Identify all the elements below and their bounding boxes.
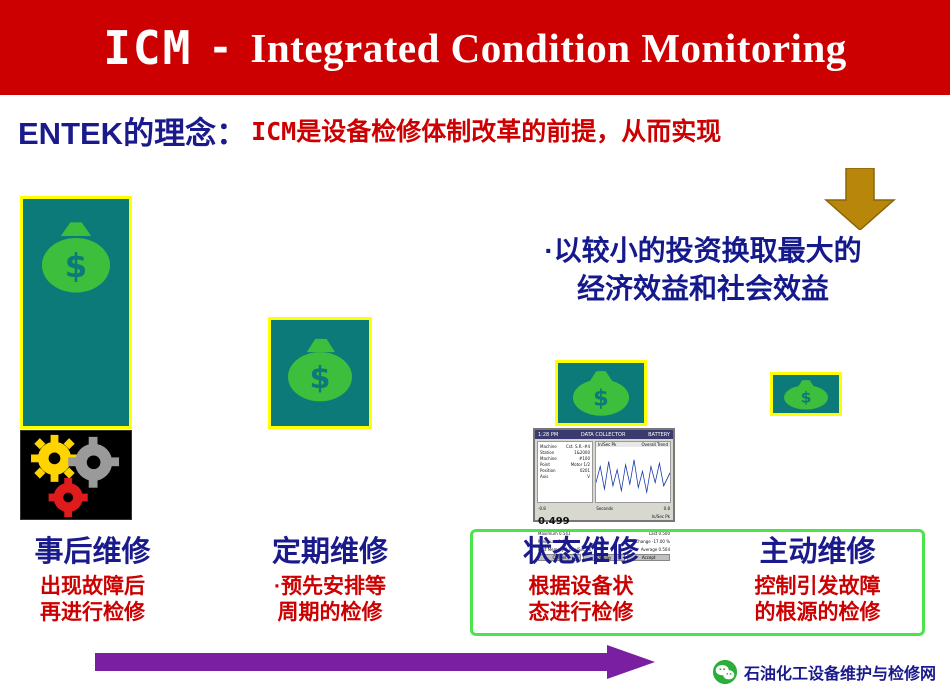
device-main-value-unit: In/Sec Pk [652, 514, 670, 529]
bottom-arrow-icon [95, 645, 655, 679]
title-dash: - [208, 25, 232, 71]
column-subtitle-line-1: 根据设备状 [486, 574, 676, 600]
column-subtitle-line-1: 控制引发故障 [715, 574, 920, 600]
column-reactive-maintenance: 事后维修 出现故障后 再进行检修 [0, 528, 185, 627]
data-collector-device: 1:28 PM DATA COLLECTOR BATTERY MachineCs… [533, 428, 675, 522]
device-readout: -0.8 Seconds 0.8 [535, 505, 673, 513]
money-bag-box-4: $ [770, 372, 842, 416]
column-subtitle: ·预先安排等 周期的检修 [235, 574, 425, 627]
column-subtitle-line-1: ·预先安排等 [235, 574, 425, 600]
column-subtitle-line-2: 再进行检修 [0, 600, 185, 626]
device-waveform-panel: In/Sec Pk Overall Trend [595, 441, 671, 503]
wechat-icon [712, 659, 738, 685]
device-info-row: AxisV [540, 474, 590, 480]
svg-text:$: $ [801, 389, 812, 406]
device-body: MachineCst. S.R.-#4 Station1&2000 Machin… [535, 439, 673, 505]
column-title: 事后维修 [0, 528, 185, 570]
money-bag-icon: $ [558, 363, 644, 423]
subtitle-red: ICM是设备检修体制改革的前提，从而实现 [251, 112, 721, 148]
column-periodic-maintenance: 定期维修 ·预先安排等 周期的检修 [235, 528, 425, 627]
title-main: Integrated Condition Monitoring [250, 24, 846, 72]
device-screen-title: DATA COLLECTOR [581, 432, 626, 438]
device-status-bar: 1:28 PM DATA COLLECTOR BATTERY [535, 430, 673, 439]
column-title: 状态维修 [486, 528, 676, 570]
subtitle-red-text: 是设备检修体制改革的前提，从而实现 [296, 118, 721, 146]
device-axis-left: -0.8 [538, 506, 546, 512]
money-bag-box-1: $ [20, 196, 132, 429]
down-arrow-icon [820, 168, 900, 230]
device-battery: BATTERY [648, 432, 670, 438]
column-subtitle-line-2: 的根源的检修 [715, 600, 920, 626]
broken-gears-image [20, 430, 132, 520]
svg-text:$: $ [310, 361, 331, 396]
note-line-1: ·以较小的投资换取最大的 [488, 232, 918, 270]
device-info-value: V [587, 474, 590, 480]
subtitle-red-mono: ICM [251, 117, 296, 146]
money-bag-box-2: $ [268, 317, 372, 429]
column-subtitle-line-2: 周期的检修 [235, 600, 425, 626]
subtitle-blue: ENTEK的理念： [18, 108, 247, 153]
title-icm: ICM [103, 21, 192, 75]
column-proactive-maintenance: 主动维修 控制引发故障 的根源的检修 [715, 528, 920, 627]
column-condition-maintenance: 状态维修 根据设备状 态进行检修 [486, 528, 676, 627]
column-subtitle: 出现故障后 再进行检修 [0, 574, 185, 627]
subtitle-row: ENTEK的理念： ICM是设备检修体制改革的前提，从而实现 [18, 105, 938, 155]
column-subtitle-line-2: 态进行检修 [486, 600, 676, 626]
wechat-footer: 石油化工设备维护与检修网 [712, 659, 936, 685]
wechat-label: 石油化工设备维护与检修网 [744, 660, 936, 684]
money-bag-box-3: $ [555, 360, 647, 426]
note-line-2: 经济效益和社会效益 [488, 270, 918, 308]
column-subtitle: 控制引发故障 的根源的检修 [715, 574, 920, 627]
gears-icon [21, 431, 131, 519]
slide-root: ICM - Integrated Condition Monitoring EN… [0, 0, 950, 693]
device-info-panel: MachineCst. S.R.-#4 Station1&2000 Machin… [537, 441, 593, 503]
column-subtitle-line-1: 出现故障后 [0, 574, 185, 600]
column-title: 主动维修 [715, 528, 920, 570]
money-bag-icon: $ [773, 375, 839, 413]
investment-note: ·以较小的投资换取最大的 经济效益和社会效益 [488, 232, 918, 308]
device-axis-right: 0.8 [664, 506, 670, 512]
column-subtitle: 根据设备状 态进行检修 [486, 574, 676, 627]
device-main-value: 0.499 [538, 514, 570, 529]
money-bag-icon: $ [23, 199, 129, 426]
column-title: 定期维修 [235, 528, 425, 570]
device-axis-label: Seconds [596, 506, 613, 512]
device-plot [596, 447, 670, 502]
svg-text:$: $ [593, 386, 609, 412]
waveform-icon [596, 447, 670, 502]
device-info-key: Axis [540, 474, 548, 480]
device-time: 1:28 PM [538, 432, 558, 438]
svg-text:$: $ [65, 247, 87, 286]
title-banner: ICM - Integrated Condition Monitoring [0, 0, 950, 95]
money-bag-icon: $ [271, 320, 369, 426]
